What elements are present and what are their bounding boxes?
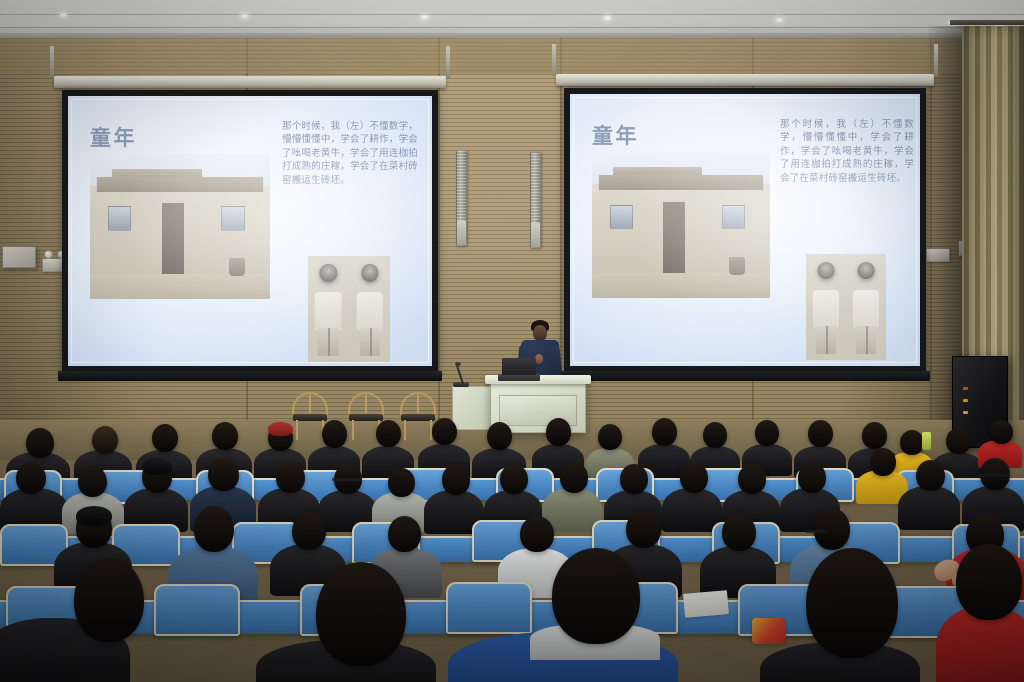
slide-surface: 童年 那个时候，我（左）不懂数学，懵懵懂懂中，学会了耕作，学会了吆喝老黄牛，学会…	[68, 96, 432, 366]
audience-head	[212, 422, 238, 450]
audience-cap	[76, 506, 112, 526]
audience-head	[316, 562, 406, 666]
slide-body-text: 那个时候，我（左）不懂数学，懵懵懂懂中，学会了耕作，学会了吆喝老黄牛，学会了用连…	[282, 120, 418, 187]
audience-head	[738, 464, 766, 494]
presenter-hand	[535, 354, 543, 364]
audience-head	[946, 428, 971, 454]
audience-head	[322, 420, 347, 448]
two-children-photo	[308, 256, 390, 362]
audience-head	[546, 418, 571, 446]
recessed-ceiling-light	[60, 13, 67, 17]
audience-cap	[142, 458, 172, 475]
audience-head	[520, 516, 554, 552]
laptop-on-lectern[interactable]	[498, 374, 540, 381]
screen-weight-bar	[58, 371, 442, 381]
speaker-led	[963, 387, 968, 390]
papers-on-desk	[683, 590, 729, 618]
audience-member	[898, 486, 960, 530]
audience-head	[78, 466, 107, 497]
audience-head	[956, 544, 1022, 620]
left-projection-screen[interactable]: 童年 那个时候，我（左）不懂数学，懵懵懂懂中，学会了耕作，学会了吆喝老黄牛，学会…	[62, 90, 438, 372]
ceiling-seam	[0, 14, 1024, 15]
audience-head	[814, 508, 850, 550]
slide-title: 童年	[592, 120, 639, 150]
audience-head	[487, 422, 512, 450]
audience-head	[680, 462, 708, 493]
screen-frame: 童年 那个时候，我（左）不懂数学，懵懵懂懂中，学会了耕作，学会了吆喝老黄牛，学会…	[62, 90, 438, 372]
lecture-hall-scene: 童年 那个时候，我（左）不懂数学，懵懵懂懂中，学会了耕作，学会了吆喝老黄牛，学会…	[0, 0, 1024, 682]
audience-head	[442, 464, 470, 495]
eyeglasses	[332, 478, 362, 481]
audience-head	[652, 418, 677, 446]
audience-head	[388, 516, 421, 552]
audience-head	[276, 462, 305, 493]
wall-knob	[44, 250, 53, 259]
audience-seat[interactable]	[446, 582, 532, 634]
audience-head	[208, 458, 239, 491]
speaker-led	[963, 399, 968, 402]
water-bottle-on-desk	[922, 432, 931, 450]
screen-bracket	[552, 44, 556, 76]
audience-head	[808, 420, 833, 447]
audience-head	[74, 558, 144, 642]
screen-weight-bar	[560, 371, 930, 381]
recessed-ceiling-light	[776, 18, 783, 22]
slide-surface: 童年 那个时候，我（左）不懂数学，懵懵懂懂中，学会了耕作，学会了吆喝老黄牛，学会…	[570, 94, 920, 366]
recessed-ceiling-light	[421, 15, 428, 19]
screen-bracket	[50, 46, 54, 78]
audience-head	[806, 548, 898, 658]
audience-head	[560, 462, 588, 493]
audience-head	[552, 548, 640, 644]
eyeglasses	[978, 474, 1010, 477]
screen-roller-housing	[556, 74, 934, 86]
audience-head	[598, 424, 622, 450]
slide-title: 童年	[90, 122, 137, 152]
audience-head	[916, 460, 945, 491]
audience-head	[722, 514, 756, 551]
audience-head	[798, 462, 826, 493]
snack-bag-on-desk	[752, 618, 786, 644]
old-rural-house-photo	[592, 152, 770, 298]
audience-head	[900, 430, 924, 455]
presenter-head	[533, 325, 547, 341]
wall-box	[2, 246, 36, 268]
speaker-led	[963, 411, 968, 414]
wall-upper-band	[0, 38, 1024, 74]
audience-head	[194, 506, 234, 552]
ceiling-seam	[0, 27, 1024, 28]
audience-head	[388, 468, 415, 497]
audience-head	[870, 448, 896, 476]
curtain-rod	[950, 20, 1024, 25]
microphone-head	[455, 362, 461, 366]
screen-bracket	[934, 44, 938, 76]
audience-head	[16, 462, 46, 494]
audience-head	[755, 420, 779, 446]
audience-head	[26, 428, 54, 458]
eyeglasses	[806, 530, 828, 533]
audience-head	[376, 420, 401, 447]
screen-roller-housing	[54, 76, 446, 88]
recessed-ceiling-light	[241, 14, 248, 18]
right-projection-screen[interactable]: 童年 那个时候，我（左）不懂数学，懵懵懂懂中，学会了耕作，学会了吆喝老黄牛，学会…	[564, 88, 926, 372]
wall-vent-panel	[456, 150, 467, 246]
stage-chair[interactable]	[400, 392, 436, 440]
old-rural-house-photo	[90, 154, 270, 299]
screen-frame: 童年 那个时候，我（左）不懂数学，懵懵懂懂中，学会了耕作，学会了吆喝老黄牛，学会…	[564, 88, 926, 372]
audience-head	[92, 426, 118, 454]
audience-head	[620, 464, 648, 494]
screen-bracket	[446, 46, 450, 78]
audience-head	[990, 420, 1013, 444]
audience-seat[interactable]	[154, 584, 240, 636]
two-children-photo	[806, 254, 886, 360]
recessed-ceiling-light	[604, 16, 611, 20]
audience-head	[862, 422, 887, 449]
audience-head	[626, 510, 661, 548]
laptop-screen	[502, 358, 536, 375]
audience-head	[152, 424, 178, 452]
wall-vent-panel	[530, 152, 541, 248]
audience-head	[703, 422, 727, 448]
audience-head	[292, 512, 326, 550]
audience-head	[500, 464, 528, 494]
slide-body-text: 那个时候，我（左）不懂数学，懵懵懂懂中，学会了耕作，学会了吆喝老黄牛，学会了用连…	[780, 118, 914, 185]
audience-cap	[268, 422, 293, 436]
audience-head	[432, 418, 457, 445]
